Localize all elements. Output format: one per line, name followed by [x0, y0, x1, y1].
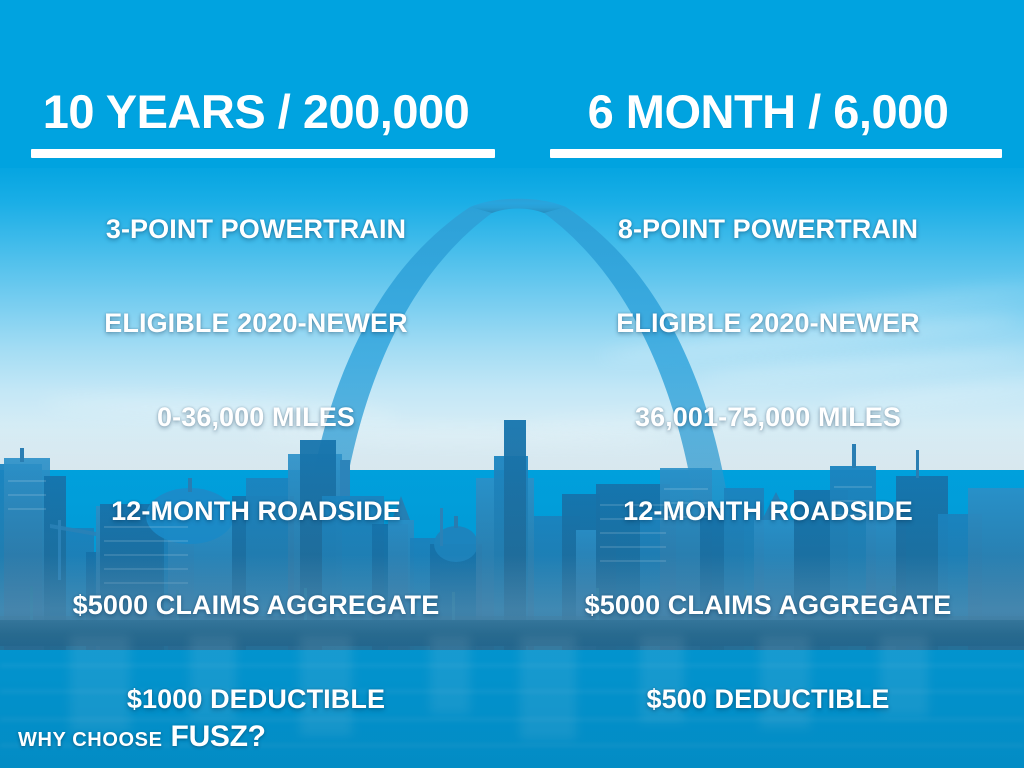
brand-lockup: WHY CHOOSE FUSZ?	[18, 720, 266, 754]
plan-title: 10 YEARS / 200,000	[0, 88, 512, 135]
plan-column-6-month: 6 MONTH / 6,000 8-POINT POWERTRAIN ELIGI…	[512, 0, 1024, 768]
promo-graphic: 10 YEARS / 200,000 3-POINT POWERTRAIN EL…	[0, 0, 1024, 768]
feature-label: ELIGIBLE 2020-NEWER	[104, 308, 407, 339]
feature-label: $500 DEDUCTIBLE	[646, 684, 889, 715]
feature-label: ELIGIBLE 2020-NEWER	[616, 308, 919, 339]
feature-label: $5000 CLAIMS AGGREGATE	[73, 590, 440, 621]
feature-list-6-month: 8-POINT POWERTRAIN ELIGIBLE 2020-NEWER 3…	[512, 182, 1024, 746]
plan-title: 6 MONTH / 6,000	[512, 88, 1024, 135]
feature-label: 3-POINT POWERTRAIN	[106, 214, 406, 245]
feature-item: 12-MONTH ROADSIDE	[0, 464, 512, 558]
brand-name: FUSZ?	[171, 720, 266, 754]
header-underline	[550, 149, 1002, 158]
feature-item: 8-POINT POWERTRAIN	[512, 182, 1024, 276]
feature-label: 8-POINT POWERTRAIN	[618, 214, 918, 245]
feature-label: $1000 DEDUCTIBLE	[127, 684, 385, 715]
feature-item: $500 DEDUCTIBLE	[512, 652, 1024, 746]
plan-header-6-month: 6 MONTH / 6,000	[512, 88, 1024, 158]
feature-item: 36,001-75,000 MILES	[512, 370, 1024, 464]
feature-item: ELIGIBLE 2020-NEWER	[0, 276, 512, 370]
feature-item: ELIGIBLE 2020-NEWER	[512, 276, 1024, 370]
feature-item: $5000 CLAIMS AGGREGATE	[0, 558, 512, 652]
feature-list-10-year: 3-POINT POWERTRAIN ELIGIBLE 2020-NEWER 0…	[0, 182, 512, 746]
content-overlay: 10 YEARS / 200,000 3-POINT POWERTRAIN EL…	[0, 0, 1024, 768]
plan-comparison: 10 YEARS / 200,000 3-POINT POWERTRAIN EL…	[0, 0, 1024, 768]
feature-label: $5000 CLAIMS AGGREGATE	[585, 590, 952, 621]
feature-label: 12-MONTH ROADSIDE	[623, 496, 913, 527]
feature-label: 0-36,000 MILES	[157, 402, 355, 433]
header-underline	[31, 149, 495, 158]
feature-label: 36,001-75,000 MILES	[635, 402, 901, 433]
feature-item: 12-MONTH ROADSIDE	[512, 464, 1024, 558]
feature-item: 3-POINT POWERTRAIN	[0, 182, 512, 276]
plan-header-10-year: 10 YEARS / 200,000	[0, 88, 512, 158]
plan-column-10-year: 10 YEARS / 200,000 3-POINT POWERTRAIN EL…	[0, 0, 512, 768]
feature-label: 12-MONTH ROADSIDE	[111, 496, 401, 527]
brand-tagline: WHY CHOOSE	[18, 729, 163, 752]
feature-item: $5000 CLAIMS AGGREGATE	[512, 558, 1024, 652]
feature-item: 0-36,000 MILES	[0, 370, 512, 464]
